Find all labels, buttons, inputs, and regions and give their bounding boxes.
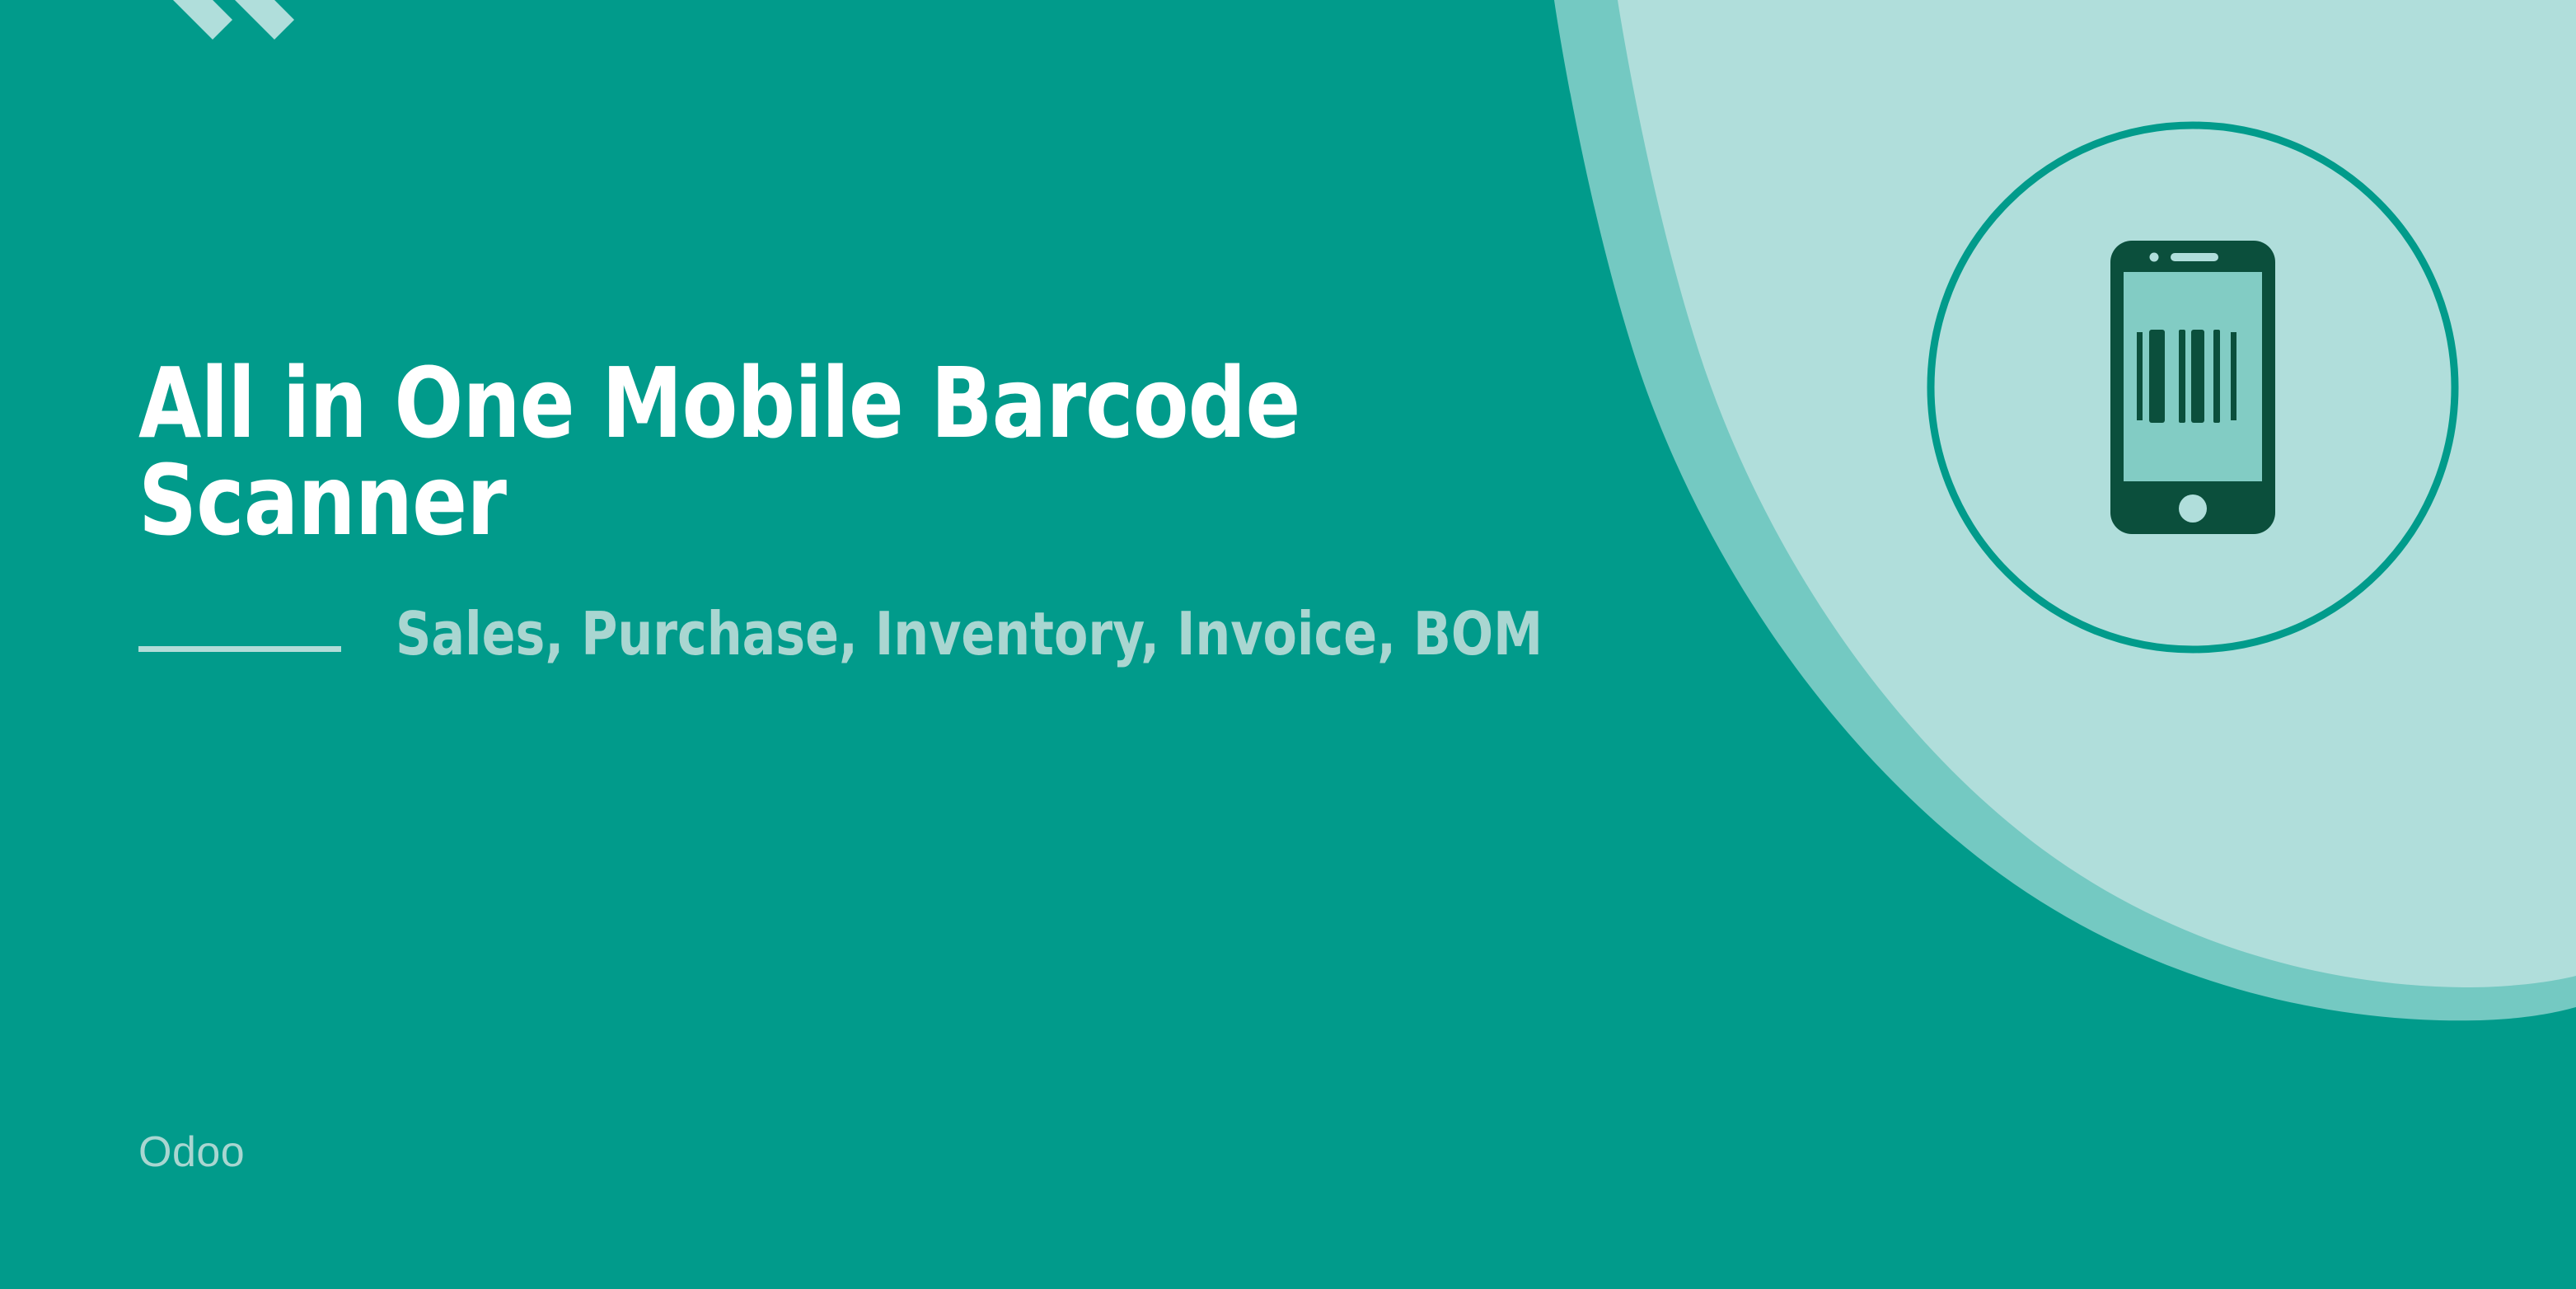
page-subtitle: Sales, Purchase, Inventory, Invoice, BOM <box>396 600 1652 669</box>
barcode-bar <box>2213 330 2220 423</box>
barcode-bar <box>2231 332 2236 420</box>
brand-label: Odoo <box>138 1131 245 1174</box>
barcode-bar <box>2149 330 2165 423</box>
headline-block: All in One Mobile Barcode Scanner Sales,… <box>138 354 1754 669</box>
slide-canvas: All in One Mobile Barcode Scanner Sales,… <box>0 0 2576 1289</box>
barcode-bar <box>2191 330 2204 423</box>
phone-speaker-slot <box>2171 253 2218 261</box>
phone-camera-dot <box>2150 253 2159 262</box>
barcode-bar <box>2137 332 2143 420</box>
barcode-bar <box>2179 330 2185 423</box>
page-title: All in One Mobile Barcode Scanner <box>138 354 1595 549</box>
subtitle-row: Sales, Purchase, Inventory, Invoice, BOM <box>138 600 1754 669</box>
subtitle-divider-rule <box>138 646 341 652</box>
phone-home-button <box>2179 495 2207 523</box>
